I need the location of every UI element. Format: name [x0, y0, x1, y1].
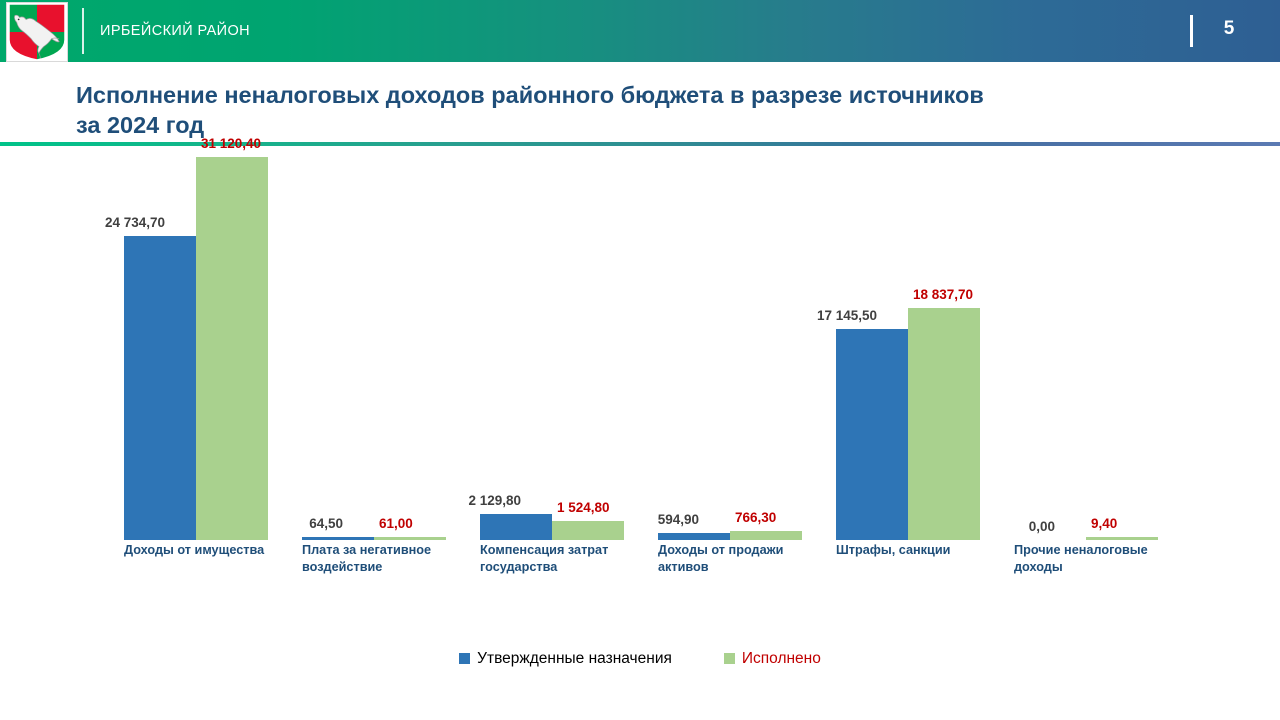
bar-pair: 2 129,801 524,80 — [471, 150, 651, 540]
bar-green-1[interactable] — [196, 157, 268, 540]
bar-value-label-blue-5: 17 145,50 — [791, 308, 877, 323]
bar-value-label-green-1: 31 120,40 — [201, 136, 301, 151]
bar-value-label-blue-6: 0,00 — [969, 519, 1055, 534]
legend-label-executed: Исполнено — [742, 650, 821, 668]
legend-swatch-blue-icon — [459, 653, 470, 664]
bar-group: 2 129,801 524,80Компенсация затрат госуд… — [471, 150, 651, 540]
bar-green-5[interactable] — [908, 308, 980, 540]
legend-label-approved: Утвержденные назначения — [477, 650, 672, 668]
bar-group: 24 734,7031 120,40Доходы от имущества — [115, 150, 295, 540]
bar-blue-4[interactable] — [658, 533, 730, 540]
bar-pair: 24 734,7031 120,40 — [115, 150, 295, 540]
slide-header: ИРБЕЙСКИЙ РАЙОН 5 — [0, 0, 1280, 62]
page-title: Исполнение неналоговых доходов районного… — [76, 80, 1196, 140]
bar-pair: 0,009,40 — [1005, 150, 1185, 540]
bar-value-label-blue-4: 594,90 — [613, 512, 699, 527]
bar-value-label-blue-2: 64,50 — [257, 516, 343, 531]
page-title-line1: Исполнение неналоговых доходов районного… — [76, 82, 984, 108]
legend-item-approved[interactable]: Утвержденные назначения — [459, 650, 672, 668]
irbeysky-coat-of-arms-icon — [6, 2, 68, 62]
chart-plot-area: 24 734,7031 120,40Доходы от имущества64,… — [0, 150, 1280, 540]
category-label-4: Доходы от продажи активов — [658, 542, 818, 576]
bar-green-6[interactable] — [1086, 537, 1158, 540]
page-number: 5 — [1212, 18, 1246, 40]
category-label-6: Прочие неналоговые доходы — [1014, 542, 1174, 576]
bar-blue-1[interactable] — [124, 236, 196, 540]
bar-blue-2[interactable] — [302, 537, 374, 540]
bar-value-label-green-6: 9,40 — [1091, 516, 1191, 531]
bar-chart: 24 734,7031 120,40Доходы от имущества64,… — [0, 150, 1280, 720]
category-label-2: Плата за негативное воздействие — [302, 542, 462, 576]
page-number-divider — [1190, 15, 1193, 47]
bar-value-label-green-5: 18 837,70 — [913, 287, 1013, 302]
bar-value-label-green-4: 766,30 — [735, 510, 835, 525]
category-label-3: Компенсация затрат государства — [480, 542, 640, 576]
bar-group: 17 145,5018 837,70Штрафы, санкции — [827, 150, 1007, 540]
organization-name: ИРБЕЙСКИЙ РАЙОН — [100, 23, 250, 39]
header-vertical-divider — [82, 8, 84, 54]
category-label-1: Доходы от имущества — [124, 542, 284, 559]
bar-pair: 594,90766,30 — [649, 150, 829, 540]
legend-swatch-green-icon — [724, 653, 735, 664]
bar-value-label-green-2: 61,00 — [379, 516, 479, 531]
bar-pair: 17 145,5018 837,70 — [827, 150, 1007, 540]
category-label-5: Штрафы, санкции — [836, 542, 996, 559]
bar-green-4[interactable] — [730, 531, 802, 540]
bar-blue-5[interactable] — [836, 329, 908, 540]
bar-pair: 64,5061,00 — [293, 150, 473, 540]
bar-group: 594,90766,30Доходы от продажи активов — [649, 150, 829, 540]
legend-item-executed[interactable]: Исполнено — [724, 650, 821, 668]
page-title-line2: за 2024 год — [76, 112, 204, 138]
bar-group: 64,5061,00Плата за негативное воздействи… — [293, 150, 473, 540]
title-underline-rule — [0, 142, 1280, 146]
bar-green-2[interactable] — [374, 537, 446, 540]
chart-legend: Утвержденные назначенияИсполнено — [0, 650, 1280, 668]
bar-blue-3[interactable] — [480, 514, 552, 540]
bar-group: 0,009,40Прочие неналоговые доходы — [1005, 150, 1185, 540]
bar-value-label-blue-3: 2 129,80 — [435, 493, 521, 508]
bar-value-label-blue-1: 24 734,70 — [79, 215, 165, 230]
